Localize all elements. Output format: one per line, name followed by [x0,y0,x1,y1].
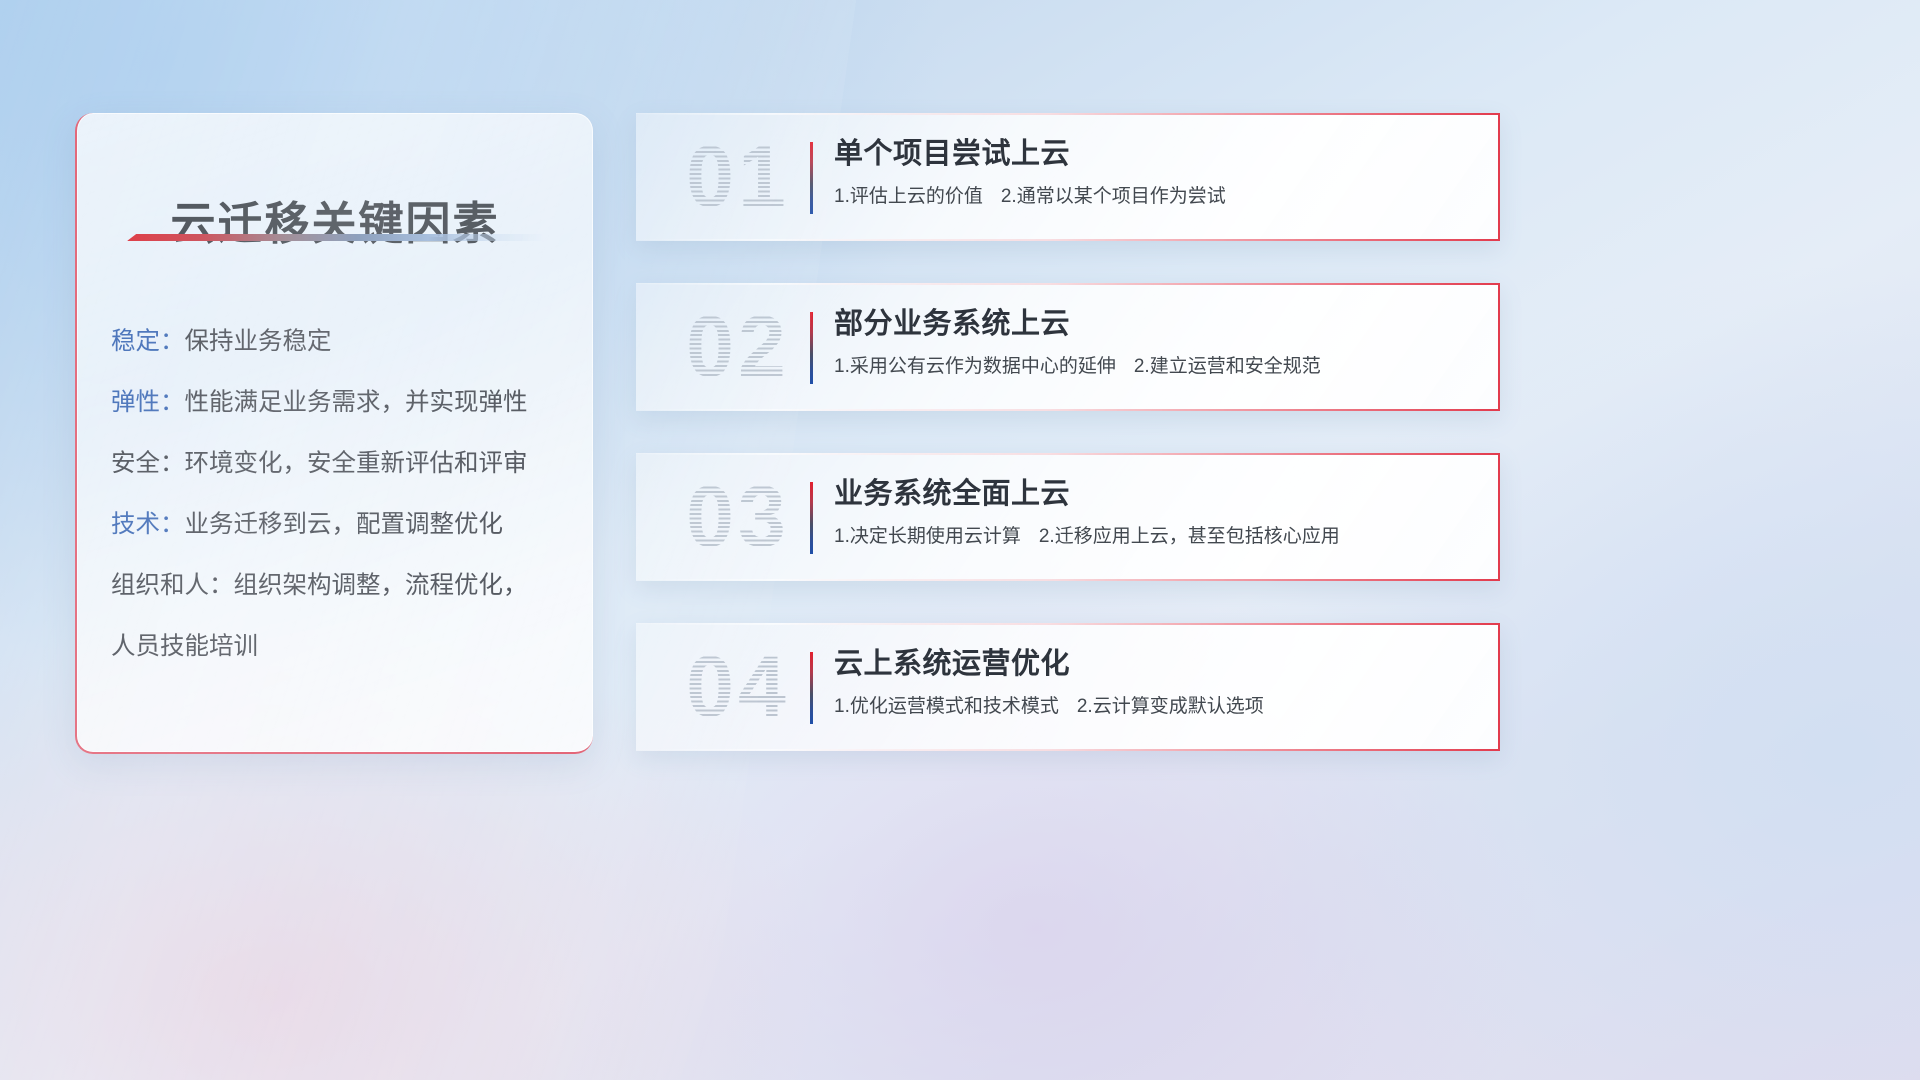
card-bottom-edge [636,409,1500,411]
stage-card[interactable]: 04 云上系统运营优化 1.优化运营模式和技术模式2.云计算变成默认选项 [636,623,1500,751]
factor-label: 安全： [111,450,185,477]
factor-label: 技术： [111,511,185,538]
stage-card[interactable]: 03 业务系统全面上云 1.决定长期使用云计算2.迁移应用上云，甚至包括核心应用 [636,453,1500,581]
stage-point-1: 1.评估上云的价值 [834,186,983,207]
stage-number: 04 [658,639,818,735]
stage-point-1: 1.决定长期使用云计算 [834,526,1021,547]
stage-title: 云上系统运营优化 [834,644,1474,684]
card-bottom-edge [636,749,1500,751]
stage-points: 1.决定长期使用云计算2.迁移应用上云，甚至包括核心应用 [834,524,1474,550]
factor-label: 组织和人： [111,572,234,599]
stage-point-2: 2.云计算变成默认选项 [1077,696,1264,717]
card-body: 部分业务系统上云 1.采用公有云作为数据中心的延伸2.建立运营和安全规范 [834,304,1474,380]
stage-point-2: 2.建立运营和安全规范 [1134,356,1321,377]
slide-canvas: 云迁移关键因素 稳定：保持业务稳定 弹性：性能满足业务需求，并实现弹性 安全：环… [0,0,1920,1080]
stage-card[interactable]: 02 部分业务系统上云 1.采用公有云作为数据中心的延伸2.建立运营和安全规范 [636,283,1500,411]
factor-value: 性能满足业务需求，并实现弹性 [185,389,528,416]
stage-title: 业务系统全面上云 [834,474,1474,514]
factor-label: 弹性： [111,389,185,416]
stage-number: 01 [658,129,818,225]
factor-row: 稳定：保持业务稳定 [111,311,573,372]
stage-number: 02 [658,299,818,395]
card-bottom-edge [636,579,1500,581]
stage-card[interactable]: 01 单个项目尝试上云 1.评估上云的价值2.通常以某个项目作为尝试 [636,113,1500,241]
factor-value: 组织架构调整，流程优化， [234,572,528,599]
stage-point-2: 2.迁移应用上云，甚至包括核心应用 [1039,526,1340,547]
card-top-edge [636,453,1500,455]
factor-value: 保持业务稳定 [185,328,332,355]
card-body: 云上系统运营优化 1.优化运营模式和技术模式2.云计算变成默认选项 [834,644,1474,720]
stage-title: 部分业务系统上云 [834,304,1474,344]
title-underline-gradient [127,234,545,241]
accent-bar [810,312,813,384]
factor-row: 弹性：性能满足业务需求，并实现弹性 [111,372,573,433]
stage-title: 单个项目尝试上云 [834,134,1474,174]
accent-bar [810,142,813,214]
key-factors-panel: 云迁移关键因素 稳定：保持业务稳定 弹性：性能满足业务需求，并实现弹性 安全：环… [75,113,593,754]
stage-points: 1.评估上云的价值2.通常以某个项目作为尝试 [834,184,1474,210]
factor-value: 人员技能培训 [111,633,258,660]
factor-value: 业务迁移到云，配置调整优化 [185,511,504,538]
factor-row: 安全：环境变化，安全重新评估和评审 [111,433,573,494]
stage-point-1: 1.采用公有云作为数据中心的延伸 [834,356,1116,377]
card-body: 单个项目尝试上云 1.评估上云的价值2.通常以某个项目作为尝试 [834,134,1474,210]
stage-point-2: 2.通常以某个项目作为尝试 [1001,186,1226,207]
accent-bar [810,652,813,724]
stage-card-list: 01 单个项目尝试上云 1.评估上云的价值2.通常以某个项目作为尝试 02 部分… [636,113,1500,751]
factor-row: 组织和人：组织架构调整，流程优化， [111,555,573,616]
factor-row: 技术：业务迁移到云，配置调整优化 [111,494,573,555]
card-bottom-edge [636,239,1500,241]
card-top-edge [636,283,1500,285]
page-title: 云迁移关键因素 [77,187,593,252]
stage-number: 03 [658,469,818,565]
stage-points: 1.采用公有云作为数据中心的延伸2.建立运营和安全规范 [834,354,1474,380]
factor-label: 稳定： [111,328,185,355]
card-top-edge [636,113,1500,115]
factor-value: 环境变化，安全重新评估和评审 [185,450,528,477]
factor-row: 人员技能培训 [111,616,573,677]
stage-point-1: 1.优化运营模式和技术模式 [834,696,1059,717]
accent-bar [810,482,813,554]
factor-list: 稳定：保持业务稳定 弹性：性能满足业务需求，并实现弹性 安全：环境变化，安全重新… [111,311,573,677]
card-body: 业务系统全面上云 1.决定长期使用云计算2.迁移应用上云，甚至包括核心应用 [834,474,1474,550]
card-top-edge [636,623,1500,625]
stage-points: 1.优化运营模式和技术模式2.云计算变成默认选项 [834,694,1474,720]
